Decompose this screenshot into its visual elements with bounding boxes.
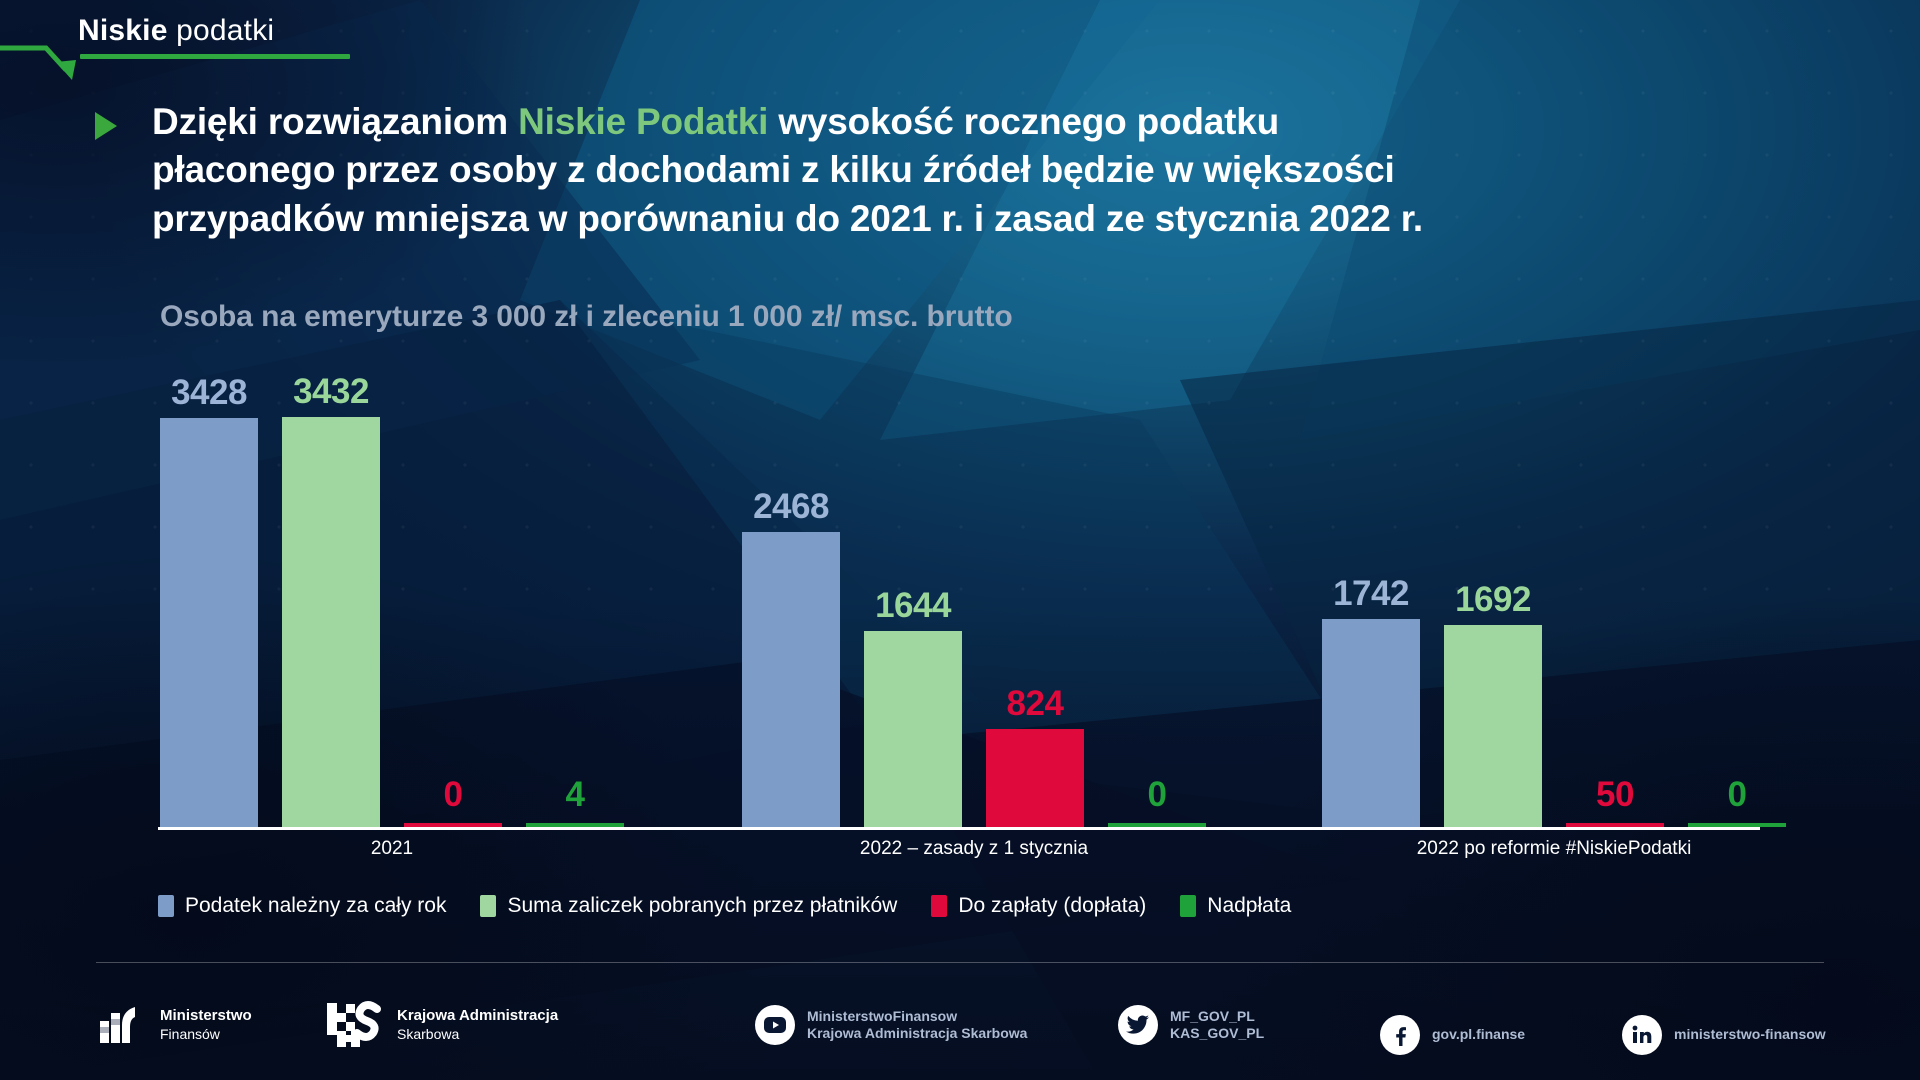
- mf-logo-text: Ministerstwo Finansów: [160, 1007, 252, 1043]
- legend-swatch: [480, 895, 496, 917]
- kas-logo-text: Krajowa Administracja Skarbowa: [397, 1007, 558, 1043]
- facebook-link[interactable]: gov.pl.finanse: [1380, 1015, 1525, 1055]
- bar-gdark: 0: [1688, 823, 1786, 827]
- twitter-line-1: MF_GOV_PL: [1170, 1008, 1264, 1026]
- bar-value-label: 824: [1007, 684, 1064, 724]
- brand-logo-bold: Niskie: [78, 14, 168, 47]
- linkedin-handle: ministerstwo-finansow: [1674, 1026, 1826, 1044]
- bar-gdark: 0: [1108, 823, 1206, 827]
- legend-swatch: [158, 895, 174, 917]
- bar-value-label: 0: [1148, 775, 1167, 815]
- chart-baseline: [158, 827, 1760, 830]
- bar-group: 246816448240: [742, 397, 1230, 827]
- legend-item: Podatek należny za cały rok: [158, 894, 446, 918]
- x-axis-label: 2022 po reformie #NiskiePodatki: [1417, 838, 1692, 860]
- headline-line-3: przypadków mniejsza w porównaniu do 2021…: [152, 195, 1572, 243]
- headline-text-a: Dzięki rozwiązaniom: [152, 101, 518, 142]
- mf-line-1: Ministerstwo: [160, 1007, 252, 1026]
- bar-value-label: 1742: [1333, 574, 1409, 614]
- bar-red: 824: [986, 729, 1084, 827]
- legend-label: Do zapłaty (dopłata): [958, 894, 1146, 918]
- twitter-text: MF_GOV_PL KAS_GOV_PL: [1170, 1008, 1264, 1043]
- bar-green: 3432: [282, 417, 380, 827]
- facebook-icon: [1380, 1015, 1420, 1055]
- brand-logo: Niskie podatki: [78, 14, 350, 59]
- youtube-link[interactable]: MinisterstwoFinansow Krajowa Administrac…: [755, 1005, 1027, 1045]
- facebook-text: gov.pl.finanse: [1432, 1026, 1525, 1044]
- legend-item: Nadpłata: [1180, 894, 1291, 918]
- triangle-bullet-icon: [95, 112, 117, 140]
- bar-blue: 3428: [160, 418, 258, 827]
- legend-swatch: [931, 895, 947, 917]
- headline-text-b: wysokość rocznego podatku: [768, 101, 1279, 142]
- kas-line-2: Skarbowa: [397, 1026, 558, 1044]
- x-axis-label: 2022 – zasady z 1 stycznia: [860, 838, 1088, 860]
- twitter-line-2: KAS_GOV_PL: [1170, 1025, 1264, 1043]
- bar-value-label: 0: [444, 775, 463, 815]
- youtube-icon: [755, 1005, 795, 1045]
- bar-value-label: 3432: [293, 372, 369, 412]
- mf-logo-icon: [96, 1003, 148, 1047]
- ministry-of-finance-logo: Ministerstwo Finansów: [96, 1003, 252, 1047]
- bar-blue: 2468: [742, 532, 840, 827]
- bar-value-label: 2468: [753, 487, 829, 527]
- bar-red: 50: [1566, 823, 1664, 827]
- bar-green: 1692: [1444, 625, 1542, 827]
- kas-logo: Krajowa Administracja Skarbowa: [325, 999, 558, 1051]
- twitter-link[interactable]: MF_GOV_PL KAS_GOV_PL: [1118, 1005, 1264, 1045]
- youtube-line-2: Krajowa Administracja Skarbowa: [807, 1025, 1027, 1043]
- bar-value-label: 1644: [875, 586, 951, 626]
- subheadline: Osoba na emeryturze 3 000 zł i zleceniu …: [160, 300, 1013, 334]
- bar-group: 17421692500: [1322, 397, 1810, 827]
- twitter-icon: [1118, 1005, 1158, 1045]
- footer: Ministerstwo Finansów Krajowa Administra…: [0, 985, 1920, 1075]
- linkedin-link[interactable]: ministerstwo-finansow: [1622, 1015, 1826, 1055]
- youtube-line-1: MinisterstwoFinansow: [807, 1008, 1027, 1026]
- bar-gdark: 4: [526, 823, 624, 827]
- brand-logo-light: podatki: [168, 14, 275, 47]
- footer-divider: [96, 962, 1824, 963]
- bar-value-label: 0: [1728, 775, 1747, 815]
- legend-label: Nadpłata: [1207, 894, 1291, 918]
- brand-logo-underline: [80, 54, 350, 59]
- headline-line-1: Dzięki rozwiązaniom Niskie Podatki wysok…: [152, 98, 1572, 146]
- chart-legend: Podatek należny za cały rokSuma zaliczek…: [158, 894, 1291, 918]
- bar-green: 1644: [864, 631, 962, 827]
- legend-item: Do zapłaty (dopłata): [931, 894, 1146, 918]
- legend-label: Suma zaliczek pobranych przez płatników: [507, 894, 897, 918]
- bar-group: 3428343204: [160, 397, 648, 827]
- kas-line-1: Krajowa Administracja: [397, 1007, 558, 1026]
- headline-accent: Niskie Podatki: [518, 101, 768, 142]
- bar-blue: 1742: [1322, 619, 1420, 827]
- mf-line-2: Finansów: [160, 1026, 252, 1044]
- chart-x-axis-labels: 20212022 – zasady z 1 stycznia2022 po re…: [0, 838, 1920, 872]
- youtube-text: MinisterstwoFinansow Krajowa Administrac…: [807, 1008, 1027, 1043]
- bar-value-label: 3428: [171, 373, 247, 413]
- legend-item: Suma zaliczek pobranych przez płatników: [480, 894, 897, 918]
- kas-logo-icon: [325, 999, 385, 1051]
- linkedin-text: ministerstwo-finansow: [1674, 1026, 1826, 1044]
- linkedin-icon: [1622, 1015, 1662, 1055]
- x-axis-label: 2021: [371, 838, 413, 860]
- legend-swatch: [1180, 895, 1196, 917]
- arrow-icon: [0, 40, 82, 84]
- bar-value-label: 1692: [1455, 580, 1531, 620]
- bar-value-label: 50: [1596, 775, 1634, 815]
- headline-line-2: płaconego przez osoby z dochodami z kilk…: [152, 146, 1572, 194]
- bar-chart: 342834320424681644824017421692500: [0, 360, 1920, 830]
- bar-value-label: 4: [566, 775, 585, 815]
- legend-label: Podatek należny za cały rok: [185, 894, 446, 918]
- headline: Dzięki rozwiązaniom Niskie Podatki wysok…: [152, 98, 1572, 243]
- brand-logo-text: Niskie podatki: [78, 14, 350, 48]
- bar-red: 0: [404, 823, 502, 827]
- facebook-handle: gov.pl.finanse: [1432, 1026, 1525, 1044]
